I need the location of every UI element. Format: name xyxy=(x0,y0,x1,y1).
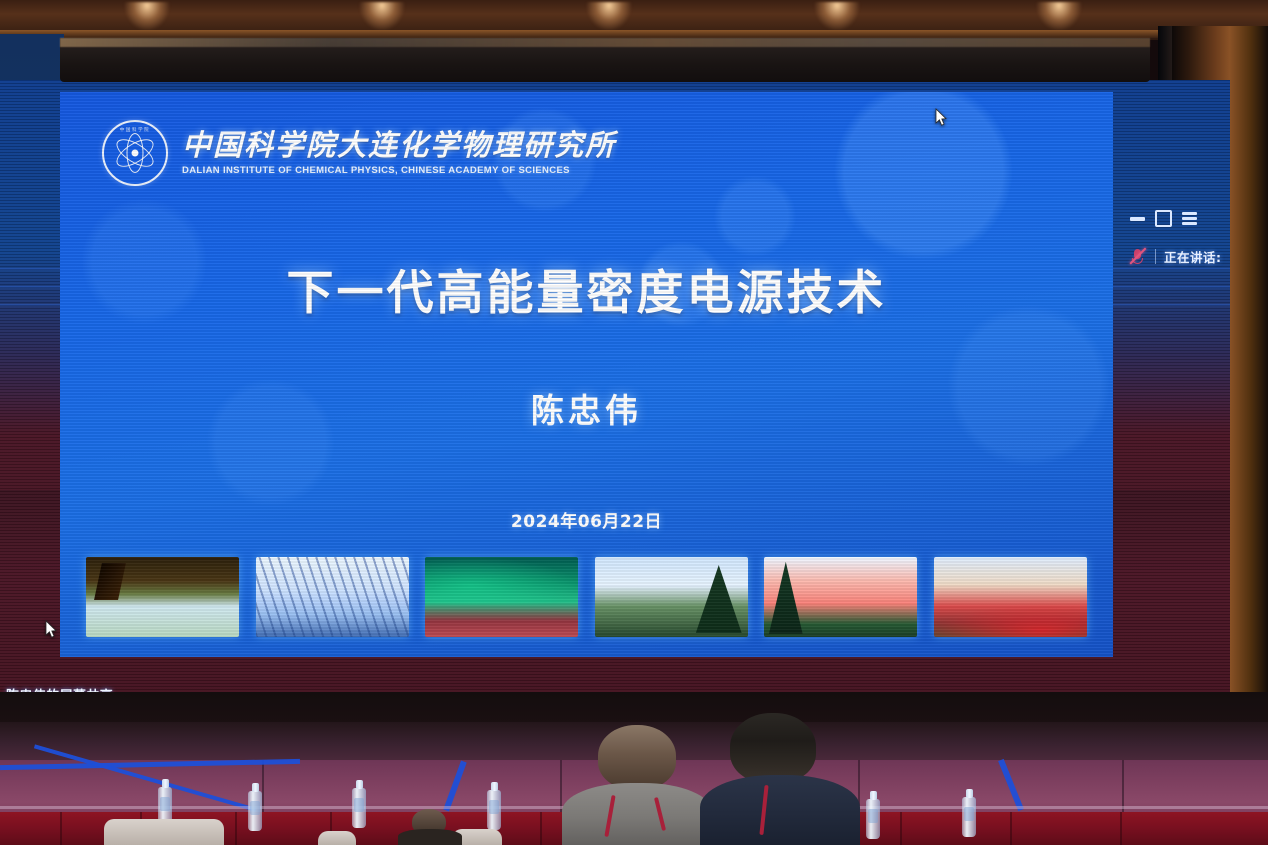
audience-member xyxy=(398,815,462,845)
campus-photo xyxy=(764,557,917,637)
water-bottle xyxy=(248,791,262,831)
slide-speaker: 陈忠伟 xyxy=(60,384,1113,432)
campus-photo xyxy=(256,557,409,637)
stage-floor-seam xyxy=(1122,760,1124,820)
cas-atom-emblem-icon: 中国科学院 xyxy=(102,120,168,186)
water-bottle xyxy=(487,790,501,830)
slide-date: 2024年06月22日 xyxy=(60,507,1113,532)
water-bottle xyxy=(962,797,976,837)
skirt-fold xyxy=(1010,812,1012,845)
water-bottle xyxy=(866,799,880,839)
conference-room-scene: 中国科学院 中国科学院大连化学物理研究所 DALIAN INSTITUTE OF… xyxy=(0,0,1268,845)
institute-logo-row: 中国科学院 中国科学院大连化学物理研究所 DALIAN INSTITUTE OF… xyxy=(102,120,616,186)
speaking-status-bar: 正在讲话: xyxy=(1124,245,1226,268)
soffit-reflection xyxy=(60,38,1150,47)
skirt-fold xyxy=(1120,812,1122,845)
toolbar-divider xyxy=(1155,249,1156,264)
institute-name-en: DALIAN INSTITUTE OF CHEMICAL PHYSICS, CH… xyxy=(182,165,616,176)
audience-member xyxy=(562,735,712,845)
slide-title: 下一代高能量密度电源技术 xyxy=(60,254,1113,323)
meeting-window-controls[interactable] xyxy=(1129,210,1198,227)
skirt-fold xyxy=(235,812,237,845)
audience-member xyxy=(700,720,860,845)
water-bottle xyxy=(352,788,366,828)
campus-photo-strip xyxy=(86,557,1087,637)
emblem-orbit xyxy=(127,133,144,173)
emblem-top-text: 中国科学院 xyxy=(104,127,166,133)
campus-photo xyxy=(425,557,578,637)
institute-name-block: 中国科学院大连化学物理研究所 DALIAN INSTITUTE OF CHEMI… xyxy=(182,130,616,176)
chair-back xyxy=(104,819,224,845)
campus-photo xyxy=(934,557,1087,637)
institute-name-cn: 中国科学院大连化学物理研究所 xyxy=(182,130,616,162)
chair-back xyxy=(318,831,356,845)
shared-presentation-slide[interactable]: 中国科学院 中国科学院大连化学物理研究所 DALIAN INSTITUTE OF… xyxy=(60,92,1113,657)
campus-photo xyxy=(86,557,239,637)
speaking-label: 正在讲话: xyxy=(1164,247,1222,266)
microphone-muted-icon[interactable] xyxy=(1128,247,1147,266)
ceiling-rim xyxy=(0,30,1268,38)
maximize-icon[interactable] xyxy=(1155,210,1172,227)
stage-floor-seam xyxy=(262,760,264,820)
skirt-fold xyxy=(540,812,542,845)
skirt-fold xyxy=(900,812,902,845)
campus-photo xyxy=(595,557,748,637)
skirt-fold xyxy=(60,812,62,845)
menu-icon[interactable] xyxy=(1181,210,1198,227)
minimize-icon[interactable] xyxy=(1129,210,1146,227)
emblem-nucleus xyxy=(132,150,139,157)
